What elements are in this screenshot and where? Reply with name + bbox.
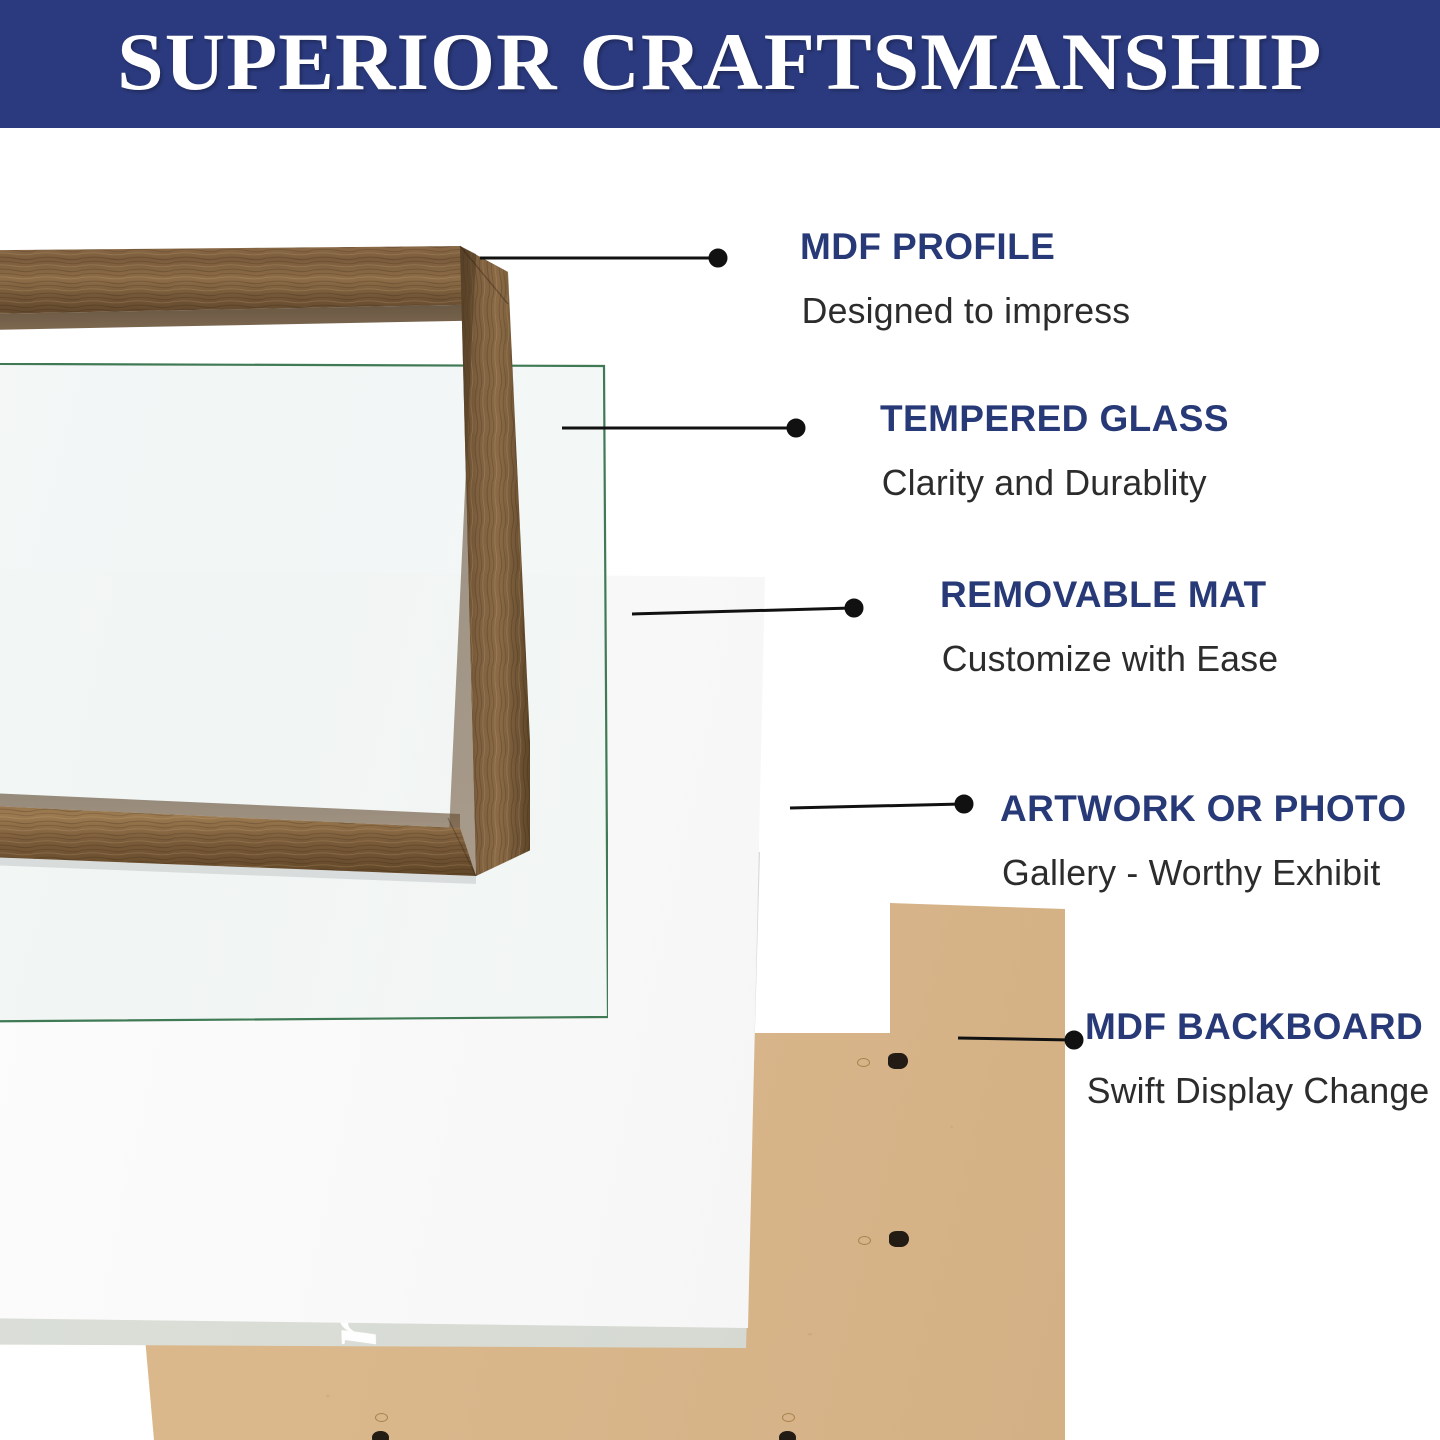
callout-subtitle: Gallery - Worthy Exhibit [1002,855,1404,891]
callout-mdf-profile: MDF PROFILE Designed to impress [800,228,1132,329]
backboard-hole [782,1413,795,1422]
callout-subtitle: Designed to impress [802,293,1131,329]
backboard-turn-tab [372,1431,389,1440]
page-title: SUPERIOR CRAFTSMANSHIP [117,21,1322,103]
backboard-turn-tab [779,1431,796,1440]
callout-subtitle: Clarity and Durablity [882,465,1227,501]
callout-title: ARTWORK OR PHOTO [1000,790,1407,827]
callout-subtitle: Swift Display Change [1087,1073,1430,1109]
callout-title: MDF BACKBOARD [1085,1008,1431,1045]
backboard-hole [858,1236,871,1245]
callout-tempered-glass: TEMPERED GLASS Clarity and Durablity [880,400,1229,501]
callout-artwork-photo: ARTWORK OR PHOTO Gallery - Worthy Exhibi… [1000,790,1407,891]
callout-subtitle: Customize with Ease [942,641,1279,677]
product-exploded-view: M Ke ries us [0,128,1440,1440]
callout-title: MDF PROFILE [800,228,1132,265]
backboard-turn-tab [889,1231,909,1247]
callout-title: TEMPERED GLASS [880,400,1229,437]
backboard-hole [857,1058,870,1067]
header-banner: SUPERIOR CRAFTSMANSHIP [0,0,1440,128]
callout-mdf-backboard: MDF BACKBOARD Swift Display Change [1085,1008,1431,1109]
callout-removable-mat: REMOVABLE MAT Customize with Ease [940,576,1280,677]
layer-wooden-frame [0,208,530,888]
callout-title: REMOVABLE MAT [940,576,1280,613]
backboard-turn-tab [888,1053,908,1069]
backboard-hole [375,1413,388,1422]
